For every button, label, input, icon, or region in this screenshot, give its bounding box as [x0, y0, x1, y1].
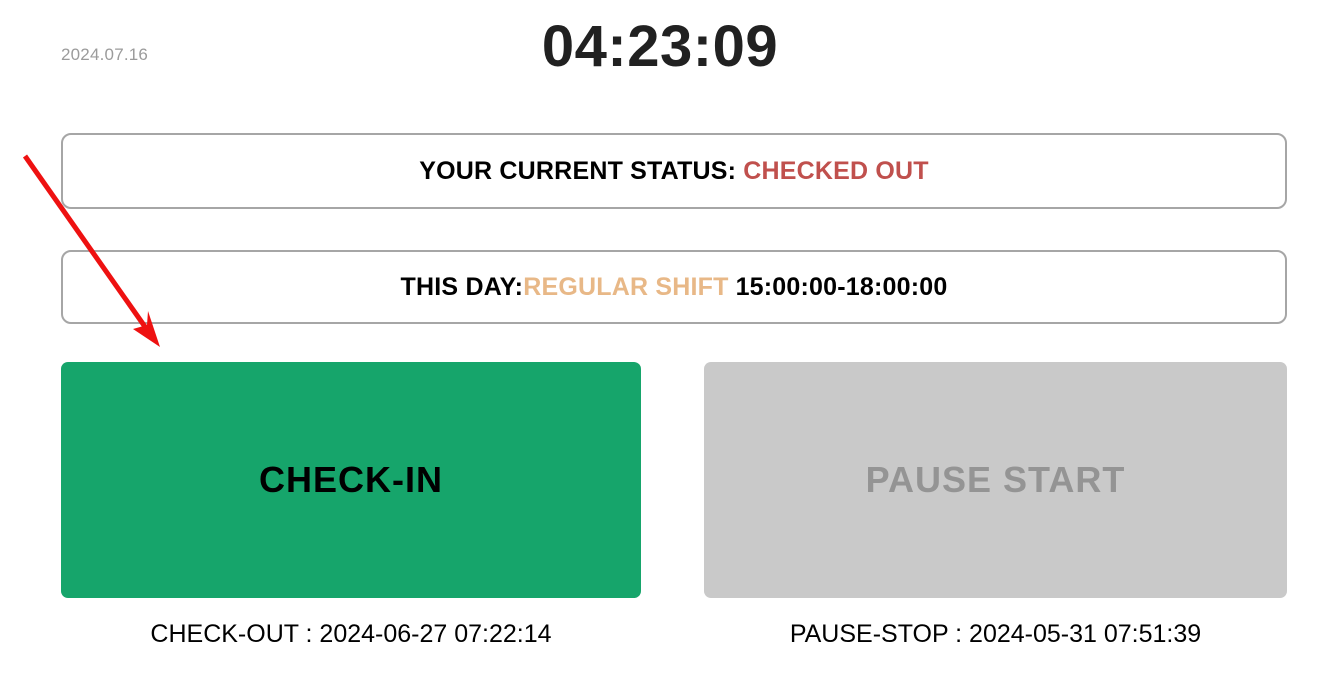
check-in-button[interactable]: CHECK-IN	[61, 362, 641, 598]
current-status-text: YOUR CURRENT STATUS:CHECKED OUT	[419, 157, 929, 186]
attendance-kiosk-screen: 2024.07.16 04:23:09 YOUR CURRENT STATUS:…	[0, 0, 1320, 693]
shift-time-range: 15:00:00-18:00:00	[736, 273, 948, 301]
status-badge: CHECKED OUT	[743, 157, 929, 185]
current-status-box: YOUR CURRENT STATUS:CHECKED OUT	[61, 133, 1287, 209]
header: 2024.07.16 04:23:09	[0, 0, 1320, 110]
today-shift-box: THIS DAY:REGULAR SHIFT15:00:00-18:00:00	[61, 250, 1287, 324]
today-shift-label: THIS DAY:	[401, 273, 524, 301]
current-time-clock: 04:23:09	[0, 18, 1320, 76]
last-pause-stop-timestamp: PAUSE-STOP : 2024-05-31 07:51:39	[704, 620, 1287, 649]
pause-start-button[interactable]: PAUSE START	[704, 362, 1287, 598]
last-check-out-timestamp: CHECK-OUT : 2024-06-27 07:22:14	[61, 620, 641, 649]
today-shift-text: THIS DAY:REGULAR SHIFT15:00:00-18:00:00	[401, 273, 948, 302]
shift-type-badge: REGULAR SHIFT	[523, 273, 728, 301]
current-status-label: YOUR CURRENT STATUS:	[419, 157, 736, 185]
